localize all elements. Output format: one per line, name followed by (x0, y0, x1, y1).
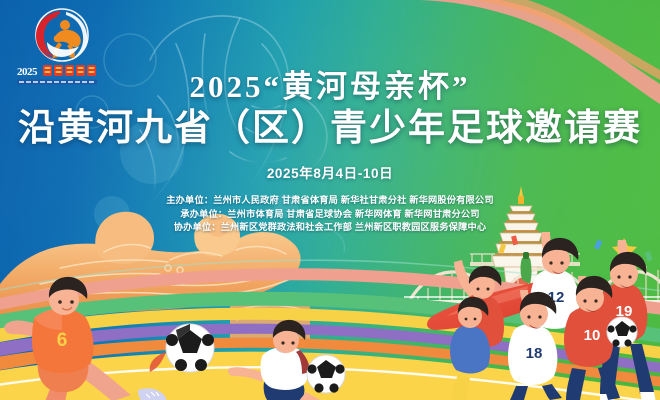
player-group-right: 12 19 10 18 (0, 0, 660, 400)
jersey-number-18: 18 (526, 345, 543, 362)
jersey-number-10: 10 (584, 327, 601, 344)
football-right (607, 317, 637, 347)
event-poster: 2025 (0, 0, 660, 400)
